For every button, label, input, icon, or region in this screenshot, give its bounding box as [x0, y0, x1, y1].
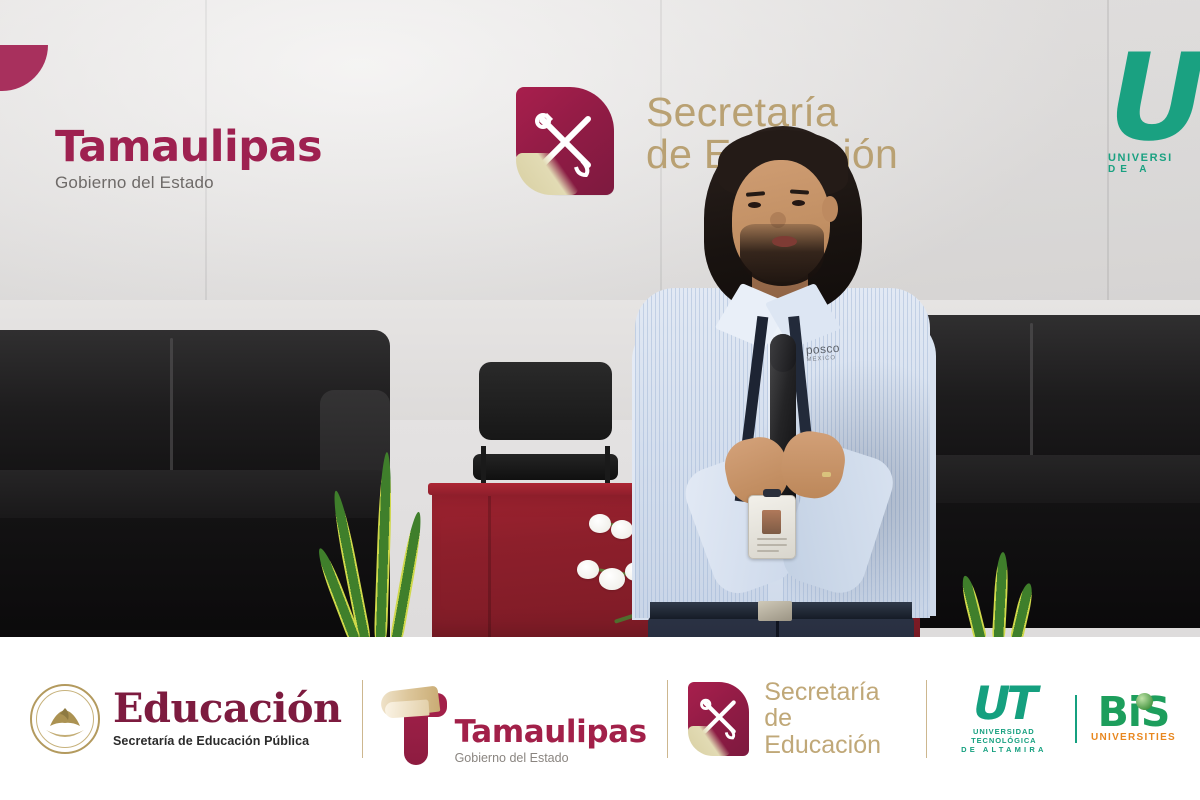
bis-subtitle: UNIVERSITIES — [1091, 732, 1176, 743]
tamaulipas-title: Tamaulipas — [455, 717, 647, 748]
backdrop-tamaulipas-tagline: Gobierno del Estado — [55, 173, 322, 193]
shirt-chest-logo: posco MEXICO — [805, 341, 840, 363]
badge-text-line — [757, 550, 779, 552]
screenshot-root: Tamaulipas Gobierno del Estado — [0, 0, 1200, 800]
secretaria-title-line2: de Educación — [764, 705, 905, 758]
sep-title: Educación — [113, 689, 342, 729]
speaker-mouth — [772, 236, 797, 247]
microphone-grille — [770, 334, 796, 372]
belt-buckle — [758, 601, 792, 621]
tamaulipas-t-mark-icon — [383, 681, 447, 765]
plant-leaf — [992, 552, 1009, 637]
ut-line2: DE ALTAMIRA — [947, 745, 1062, 754]
badge-clip — [763, 489, 781, 497]
table-skirt-fold — [488, 496, 491, 637]
event-photo: Tamaulipas Gobierno del Estado — [0, 0, 1200, 637]
t-mark-wing-highlight — [384, 699, 429, 718]
coat-of-arms-eagle-svg — [30, 684, 100, 754]
ut-bis-divider — [1075, 695, 1077, 743]
tamaulipas-subtitle: Gobierno del Estado — [455, 751, 647, 765]
sep-text-lockup: Educación Secretaría de Educación Públic… — [113, 689, 342, 748]
chair-backrest — [479, 362, 612, 440]
speaker-eye — [792, 200, 805, 206]
bis-glyph: BiS — [1091, 694, 1176, 731]
secretaria-text-lockup: Secretaría de Educación — [764, 679, 905, 759]
footer-divider — [667, 680, 668, 758]
sofa-cushion-seam — [170, 338, 173, 472]
speaker-eye — [748, 202, 761, 208]
logo-sep: Educación Secretaría de Educación Públic… — [0, 673, 342, 765]
plant-leaf — [959, 574, 987, 637]
finger-ring — [822, 472, 831, 477]
pencil-pen-svg — [688, 682, 750, 751]
ut-glyph: UT — [970, 683, 1039, 723]
badge-portrait — [762, 510, 781, 534]
logo-tamaulipas: Tamaulipas Gobierno del Estado — [383, 673, 647, 765]
logo-ut-bis: UT UNIVERSIDAD TECNOLÓGICA DE ALTAMIRA B… — [947, 673, 1200, 765]
backdrop-tamaulipas-lockup: Tamaulipas Gobierno del Estado — [55, 126, 322, 193]
sep-subtitle: Secretaría de Educación Pública — [113, 734, 342, 748]
plant-leaf — [390, 511, 425, 637]
ut-lockup: UT UNIVERSIDAD TECNOLÓGICA DE ALTAMIRA — [947, 683, 1062, 754]
sofa-cushion-seam — [1030, 323, 1033, 457]
plant-leaf — [374, 452, 393, 637]
globe-icon — [1136, 693, 1153, 710]
mexican-coat-of-arms-icon — [30, 684, 100, 754]
footer-logo-bar: Educación Secretaría de Educación Públic… — [0, 637, 1200, 800]
badge-text-line — [757, 538, 787, 540]
secretaria-title-line1: Secretaría — [764, 679, 905, 706]
speaker: posco MEXICO — [600, 120, 960, 637]
bis-lockup: BiS UNIVERSITIES — [1091, 694, 1176, 744]
footer-divider — [362, 680, 363, 758]
footer-divider — [926, 680, 927, 758]
speaker-beard — [740, 224, 824, 286]
pencil-and-pen-crossed-icon — [688, 682, 750, 756]
backdrop-ut-logo: UT UNIVERSI DE A — [1108, 48, 1200, 223]
tamaulipas-text-lockup: Tamaulipas Gobierno del Estado — [455, 717, 647, 765]
badge-text-line — [757, 544, 787, 546]
backdrop-tamaulipas-wordmark: Tamaulipas — [55, 126, 322, 169]
snake-plant-left — [344, 452, 424, 637]
plant-leaf — [1010, 582, 1035, 637]
logo-secretaria-educacion: Secretaría de Educación — [688, 673, 906, 765]
id-badge — [748, 495, 796, 559]
speaker-ear — [822, 196, 838, 222]
backdrop-ut-glyph: UT — [1108, 48, 1200, 150]
orchid-bloom — [577, 560, 599, 579]
snake-plant-right — [962, 552, 1042, 637]
chair-seat — [473, 454, 618, 480]
